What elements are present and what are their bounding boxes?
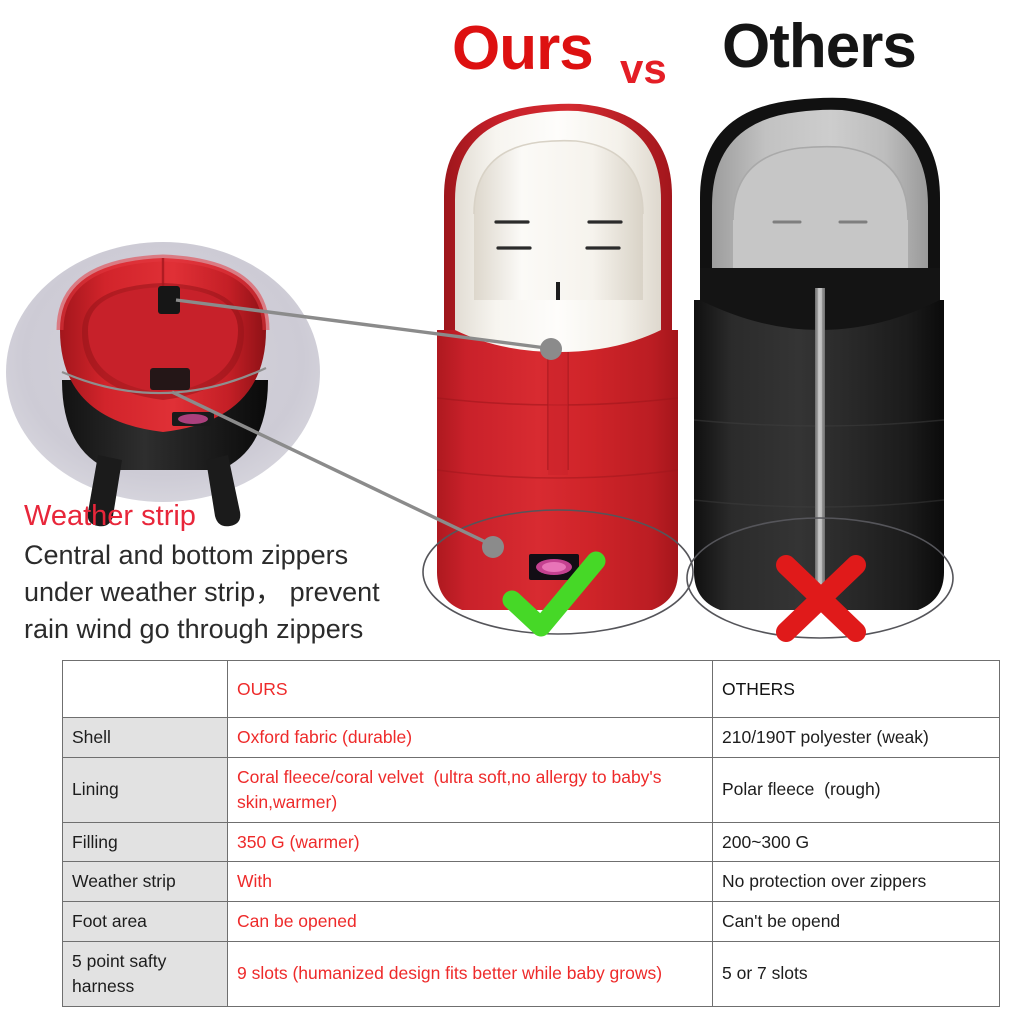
row-others-value: 200~300 G	[713, 822, 1000, 862]
row-ours-value: Oxford fabric (durable)	[228, 718, 713, 758]
row-others-value: Polar fleece (rough)	[713, 757, 1000, 822]
leader-line-top	[176, 300, 546, 348]
row-label: Shell	[63, 718, 228, 758]
callout-line-2: under weather strip， prevent	[24, 574, 434, 611]
ours-highlight-ellipse	[423, 510, 693, 634]
weather-strip-buckle	[158, 286, 180, 314]
table-row: Lining Coral fleece/coral velvet (ultra …	[63, 757, 1000, 822]
callout-body: Central and bottom zippers under weather…	[24, 537, 434, 647]
heading-others: Others	[722, 16, 916, 78]
row-ours-value: Coral fleece/coral velvet (ultra soft,no…	[228, 757, 713, 822]
others-product-image	[687, 98, 953, 638]
row-ours-value: 9 slots (humanized design fits better wh…	[228, 942, 713, 1007]
table-header-row: OURS OTHERS	[63, 661, 1000, 718]
row-label: 5 point safty harness	[63, 942, 228, 1007]
table-body: Shell Oxford fabric (durable) 210/190T p…	[63, 718, 1000, 1007]
weather-strip-callout: Weather strip Central and bottom zippers…	[24, 498, 434, 647]
ours-product-image	[423, 104, 693, 634]
others-highlight-ellipse	[687, 518, 953, 638]
table-row: Foot area Can be opened Can't be opend	[63, 902, 1000, 942]
header-cell-ours: OURS	[228, 661, 713, 718]
row-label: Foot area	[63, 902, 228, 942]
row-others-value: 210/190T polyester (weak)	[713, 718, 1000, 758]
row-ours-value: With	[228, 862, 713, 902]
check-mark-icon	[512, 561, 596, 627]
table-row: Shell Oxford fabric (durable) 210/190T p…	[63, 718, 1000, 758]
harness-slots	[496, 222, 621, 248]
weather-strip-closeup-image	[6, 242, 320, 526]
callout-line-3: rain wind go through zippers	[24, 611, 434, 648]
heading-ours: Ours	[452, 18, 593, 80]
header-cell-others: OTHERS	[713, 661, 1000, 718]
row-label: Filling	[63, 822, 228, 862]
header-cell-blank	[63, 661, 228, 718]
callout-title: Weather strip	[24, 498, 434, 535]
exposed-zipper	[815, 288, 825, 588]
table-row: Filling 350 G (warmer) 200~300 G	[63, 822, 1000, 862]
leader-dot-bottom	[482, 536, 504, 558]
table-row: 5 point safty harness 9 slots (humanized…	[63, 942, 1000, 1007]
leader-dot-top	[540, 338, 562, 360]
heading-vs: vs	[620, 48, 667, 90]
row-others-value: Can't be opend	[713, 902, 1000, 942]
row-ours-value: 350 G (warmer)	[228, 822, 713, 862]
leader-dots	[482, 338, 562, 558]
row-ours-value: Can be opened	[228, 902, 713, 942]
row-others-value: 5 or 7 slots	[713, 942, 1000, 1007]
brand-logo-patch	[529, 554, 579, 580]
row-label: Weather strip	[63, 862, 228, 902]
callout-line-1: Central and bottom zippers	[24, 537, 434, 574]
infographic-canvas: Ours vs Others Weather strip Central and…	[0, 0, 1015, 1015]
table-row: Weather strip With No protection over zi…	[63, 862, 1000, 902]
comparison-table: OURS OTHERS Shell Oxford fabric (durable…	[62, 660, 1000, 1007]
row-label: Lining	[63, 757, 228, 822]
row-others-value: No protection over zippers	[713, 862, 1000, 902]
cross-mark-icon	[786, 565, 856, 632]
